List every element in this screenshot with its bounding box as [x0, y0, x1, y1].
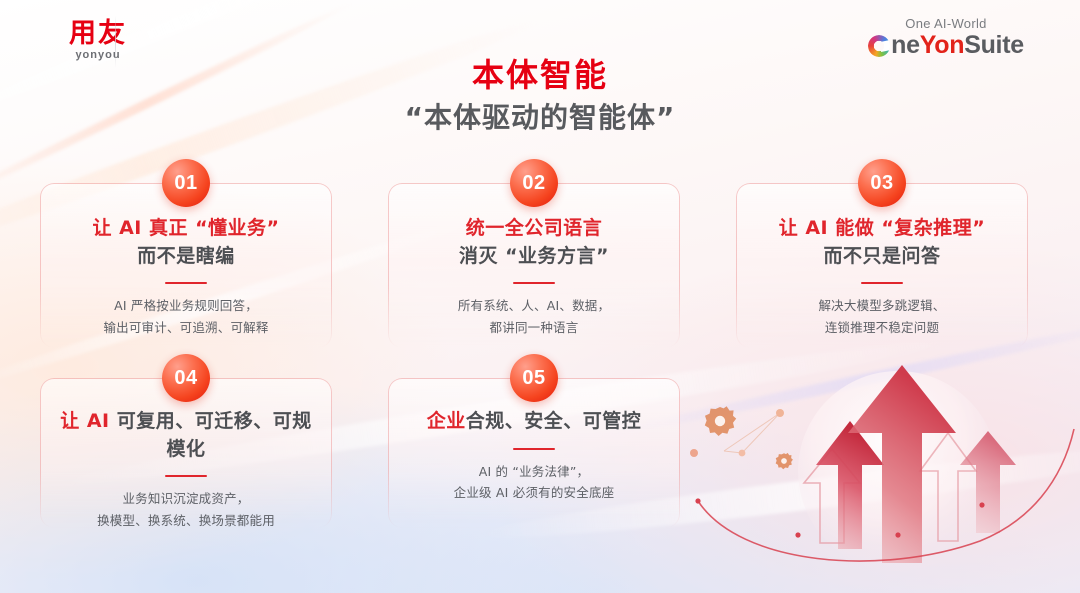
- network-dot: [776, 409, 784, 417]
- heading-dark: 而不只是问答: [823, 245, 940, 267]
- curve-node: [979, 502, 984, 507]
- page-title: 本体智能: [0, 50, 1080, 96]
- feature-card-03-text: 解决大模型多跳逻辑、 连锁推理不稳定问题: [750, 295, 1014, 339]
- feature-card-02-content: 统一全公司语言 消灭 “业务方言” 所有系统、人、AI、数据， 都讲同一种语言: [388, 215, 680, 339]
- text-line-2: 输出可审计、可追溯、可解释: [103, 320, 268, 335]
- curve-node: [695, 498, 700, 503]
- feature-card-01-text: AI 严格按业务规则回答， 输出可审计、可追溯、可解释: [54, 295, 318, 339]
- curve-node: [795, 532, 800, 537]
- page-subtitle: “本体驱动的智能体”: [0, 96, 1080, 136]
- heading-highlight: 企业: [427, 410, 466, 432]
- badge-number: 04: [174, 367, 197, 390]
- badge-number: 05: [522, 367, 545, 390]
- feature-card-05-text: AI 的 “业务法律”， 企业级 AI 必须有的安全底座: [402, 461, 666, 505]
- badge-number: 02: [522, 172, 545, 195]
- network-link: [724, 451, 742, 453]
- feature-card-04-text: 业务知识沉淀成资产， 换模型、换系统、换场景都能用: [54, 488, 318, 532]
- sphere-glow: [798, 371, 998, 571]
- heading-dark: 消灭 “业务方言”: [459, 245, 609, 267]
- feature-card-05-badge: 05: [510, 354, 558, 402]
- text-line-2: 都讲同一种语言: [490, 320, 579, 335]
- feature-card-01-content: 让 AI 真正 “懂业务” 而不是瞎编 AI 严格按业务规则回答， 输出可审计、…: [40, 215, 332, 339]
- swoosh-curve: [698, 429, 1074, 561]
- text-line-1: 所有系统、人、AI、数据，: [458, 298, 610, 313]
- feature-card-05-content: 企业合规、安全、可管控 AI 的 “业务法律”， 企业级 AI 必须有的安全底座: [388, 408, 680, 504]
- divider-rule: [165, 282, 207, 284]
- slide-canvas: 用友 yonyou One AI-World ne Yon Suite 本体智能…: [0, 0, 1080, 593]
- text-line-2: 连锁推理不稳定问题: [825, 320, 939, 335]
- text-line-2: 企业级 AI 必须有的安全底座: [454, 485, 615, 500]
- divider-rule: [513, 282, 555, 284]
- network-link: [724, 413, 780, 451]
- badge-number: 03: [870, 172, 893, 195]
- feature-card-02-badge: 02: [510, 159, 558, 207]
- arrow-outline: [804, 449, 860, 543]
- feature-card-03-heading: 让 AI 能做 “复杂推理” 而不只是问答: [750, 215, 1014, 270]
- arrow-small-right: [960, 431, 1016, 533]
- feature-card-03-badge: 03: [858, 159, 906, 207]
- feature-card-02-text: 所有系统、人、AI、数据， 都讲同一种语言: [402, 295, 666, 339]
- heading-highlight: 统一全公司语言: [466, 217, 603, 239]
- network-dot: [690, 449, 698, 457]
- arrow-medium-left: [816, 421, 884, 549]
- heading-highlight: 让 AI 能做 “复杂推理”: [779, 217, 986, 239]
- arrow-large-center: [848, 365, 956, 563]
- growth-arrows-illustration: [680, 353, 1080, 593]
- curve-node: [895, 532, 900, 537]
- arrow-outline: [920, 433, 976, 541]
- heading-highlight: 让 AI: [60, 410, 117, 432]
- brand-tagline: One AI-World: [846, 16, 1046, 31]
- feature-card-04-badge: 04: [162, 354, 210, 402]
- heading-dark: 合规、安全、可管控: [466, 410, 642, 432]
- feature-card-04-content: 让 AI 可复用、可迁移、可规模化 业务知识沉淀成资产， 换模型、换系统、换场景…: [40, 408, 332, 532]
- feature-card-04-heading: 让 AI 可复用、可迁移、可规模化: [54, 408, 318, 463]
- text-line-2: 换模型、换系统、换场景都能用: [97, 513, 275, 528]
- text-line-1: 业务知识沉淀成资产，: [122, 491, 249, 506]
- feature-card-03-content: 让 AI 能做 “复杂推理” 而不只是问答 解决大模型多跳逻辑、 连锁推理不稳定…: [736, 215, 1028, 339]
- illustration-svg: [680, 353, 1080, 593]
- network-dot: [739, 450, 746, 457]
- feature-card-01-badge: 01: [162, 159, 210, 207]
- heading-highlight: 让 AI 真正 “懂业务”: [92, 217, 279, 239]
- text-line-1: 解决大模型多跳逻辑、: [818, 298, 945, 313]
- network-link: [742, 413, 780, 453]
- divider-rule: [513, 448, 555, 450]
- divider-rule: [165, 475, 207, 477]
- heading-dark: 可复用、可迁移、可规模化: [117, 410, 312, 460]
- feature-card-05-heading: 企业合规、安全、可管控: [402, 408, 666, 436]
- text-line-1: AI 严格按业务规则回答，: [114, 298, 258, 313]
- gear-icon: [776, 453, 793, 469]
- feature-card-01-heading: 让 AI 真正 “懂业务” 而不是瞎编: [54, 215, 318, 270]
- heading-dark: 而不是瞎编: [137, 245, 235, 267]
- gear-icon: [705, 406, 736, 436]
- feature-card-02-heading: 统一全公司语言 消灭 “业务方言”: [402, 215, 666, 270]
- badge-number: 01: [174, 172, 197, 195]
- yonyou-logo-cn: 用友: [38, 20, 158, 48]
- divider-rule: [861, 282, 903, 284]
- text-line-1: AI 的 “业务法律”，: [479, 464, 590, 479]
